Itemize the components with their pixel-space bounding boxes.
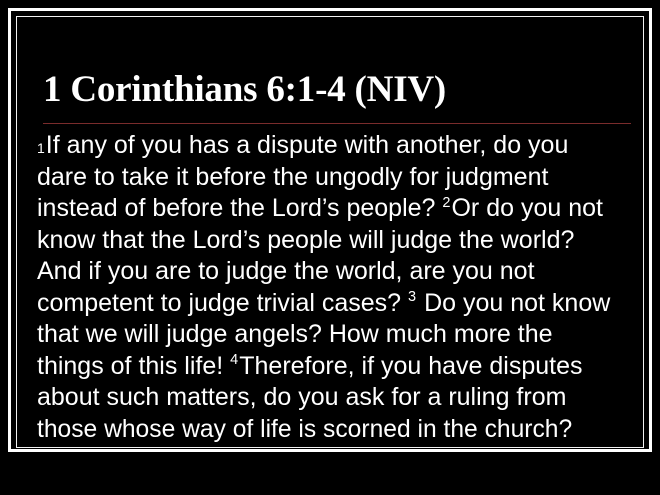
scripture-body: 1If any of you has a dispute with anothe… xyxy=(37,130,637,445)
slide-title: 1 Corinthians 6:1-4 (NIV) xyxy=(43,69,623,111)
scripture-line-8-text-b: Therefore, if you have disputes xyxy=(239,352,582,380)
slide-content-area: 1 Corinthians 6:1-4 (NIV) 1If any of you… xyxy=(17,17,643,447)
scripture-line-4-text: know that the Lord’s people will judge t… xyxy=(37,226,574,254)
verse-number-1: 1 xyxy=(37,140,46,156)
scripture-line-10: those whose way of life is scorned in th… xyxy=(37,414,628,446)
scripture-line-2-text: dare to take it before the ungodly for j… xyxy=(37,163,548,191)
scripture-line-6: competent to judge trivial cases? 3 Do y… xyxy=(37,288,637,320)
scripture-line-1: 1If any of you has a dispute with anothe… xyxy=(37,130,637,162)
scripture-line-5: And if you are to judge the world, are y… xyxy=(37,256,637,288)
title-divider-rule xyxy=(43,123,631,124)
scripture-line-1-text: If any of you has a dispute with another… xyxy=(46,131,569,159)
scripture-line-8-text-a: things of this life! xyxy=(37,352,223,380)
scripture-line-9-text: about such matters, do you ask for a rul… xyxy=(37,383,566,411)
scripture-line-4: know that the Lord’s people will judge t… xyxy=(37,225,637,257)
scripture-line-3-text-a: instead of before the Lord’s people? xyxy=(37,194,435,222)
scripture-line-6-text-b: Do you not know xyxy=(424,289,610,317)
scripture-line-3: instead of before the Lord’s people? 2Or… xyxy=(37,193,637,225)
scripture-line-8: things of this life! 4Therefore, if you … xyxy=(37,351,637,383)
scripture-line-9: about such matters, do you ask for a rul… xyxy=(37,382,637,414)
scripture-line-3-text-b: Or do you not xyxy=(451,194,602,222)
scripture-line-6-text-a: competent to judge trivial cases? xyxy=(37,289,401,317)
verse-number-3: 3 xyxy=(408,289,417,305)
scripture-line-2: dare to take it before the ungodly for j… xyxy=(37,162,637,194)
scripture-line-10-text: those whose way of life is scorned in th… xyxy=(37,415,572,443)
scripture-line-5-text: And if you are to judge the world, are y… xyxy=(37,257,535,285)
slide: 1 Corinthians 6:1-4 (NIV) 1If any of you… xyxy=(0,0,660,495)
verse-number-4: 4 xyxy=(230,352,239,368)
scripture-line-7: that we will judge angels? How much more… xyxy=(37,319,637,351)
scripture-line-7-text: that we will judge angels? How much more… xyxy=(37,320,553,348)
